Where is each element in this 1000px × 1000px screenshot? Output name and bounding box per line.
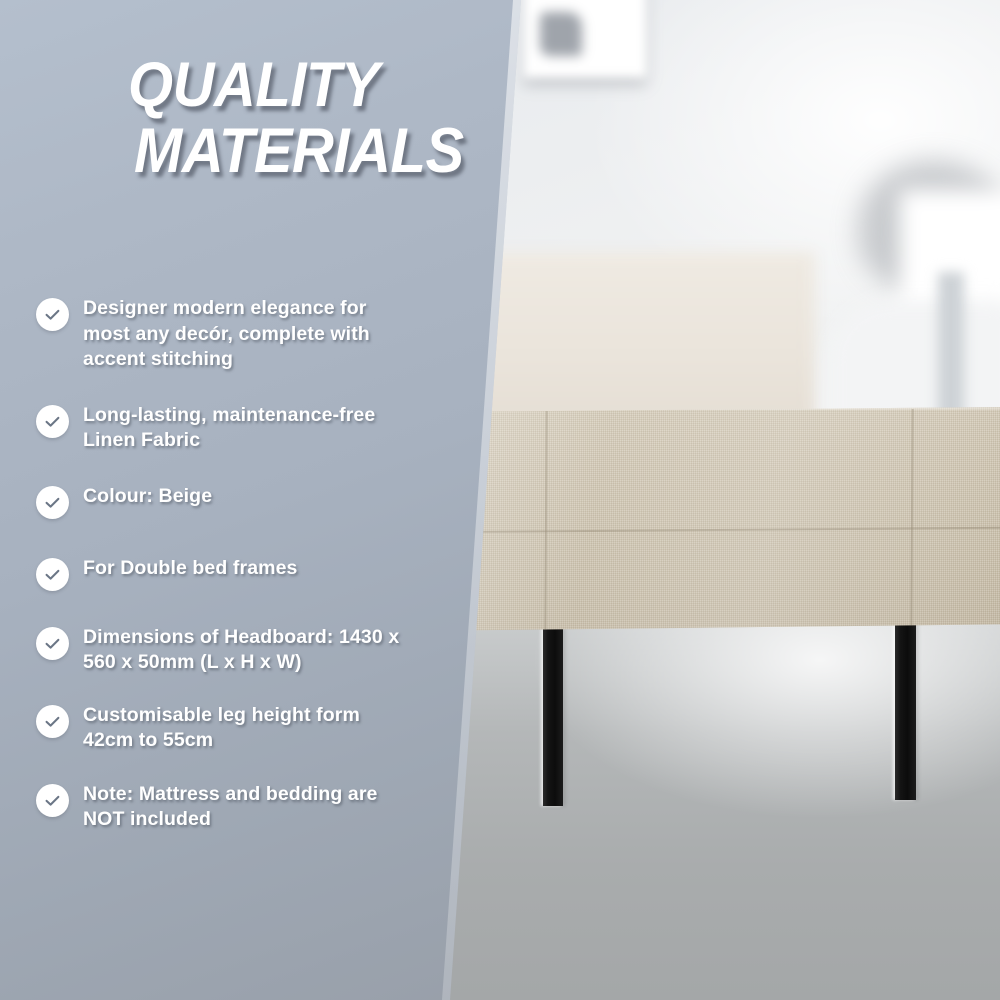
list-item: Long-lasting, maintenance-free Linen Fab… bbox=[36, 403, 436, 454]
check-circle-icon bbox=[36, 705, 69, 738]
headline-line-1: QUALITY bbox=[128, 52, 496, 118]
feature-text: Dimensions of Headboard: 1430 x 560 x 50… bbox=[83, 625, 413, 676]
feature-text: Colour: Beige bbox=[83, 484, 212, 510]
list-item: Colour: Beige bbox=[36, 484, 436, 519]
feature-text: Note: Mattress and bedding are NOT inclu… bbox=[83, 782, 413, 833]
list-item: Note: Mattress and bedding are NOT inclu… bbox=[36, 782, 436, 833]
check-circle-icon bbox=[36, 627, 69, 660]
stitching-seam-vertical-right bbox=[910, 409, 913, 629]
headboard-leg-left bbox=[543, 628, 563, 806]
check-circle-icon bbox=[36, 486, 69, 519]
feature-text: For Double bed frames bbox=[83, 556, 297, 582]
headboard-panel bbox=[408, 407, 1000, 631]
headboard-sheen bbox=[408, 407, 1000, 631]
headboard-leg-right bbox=[895, 624, 916, 800]
list-item: Customisable leg height form 42cm to 55c… bbox=[36, 703, 436, 754]
page-title: QUALITY MATERIALS bbox=[128, 52, 528, 184]
stitching-seam-vertical-left bbox=[544, 411, 547, 629]
check-circle-icon bbox=[36, 784, 69, 817]
feature-text: Long-lasting, maintenance-free Linen Fab… bbox=[83, 403, 413, 454]
list-item: For Double bed frames bbox=[36, 556, 436, 591]
feature-text: Designer modern elegance for most any de… bbox=[83, 296, 413, 373]
check-circle-icon bbox=[36, 558, 69, 591]
feature-list: Designer modern elegance for most any de… bbox=[36, 296, 436, 833]
check-circle-icon bbox=[36, 298, 69, 331]
picture-frame-decor bbox=[524, 0, 646, 78]
stitching-seam-horizontal bbox=[408, 527, 1000, 534]
check-circle-icon bbox=[36, 405, 69, 438]
list-item: Designer modern elegance for most any de… bbox=[36, 296, 436, 373]
feature-text: Customisable leg height form 42cm to 55c… bbox=[83, 703, 413, 754]
blurred-bed-background bbox=[470, 252, 815, 424]
product-feature-banner: QUALITY MATERIALS Designer modern elegan… bbox=[0, 0, 1000, 1000]
headline-line-2: MATERIALS bbox=[134, 118, 496, 184]
list-item: Dimensions of Headboard: 1430 x 560 x 50… bbox=[36, 625, 436, 676]
